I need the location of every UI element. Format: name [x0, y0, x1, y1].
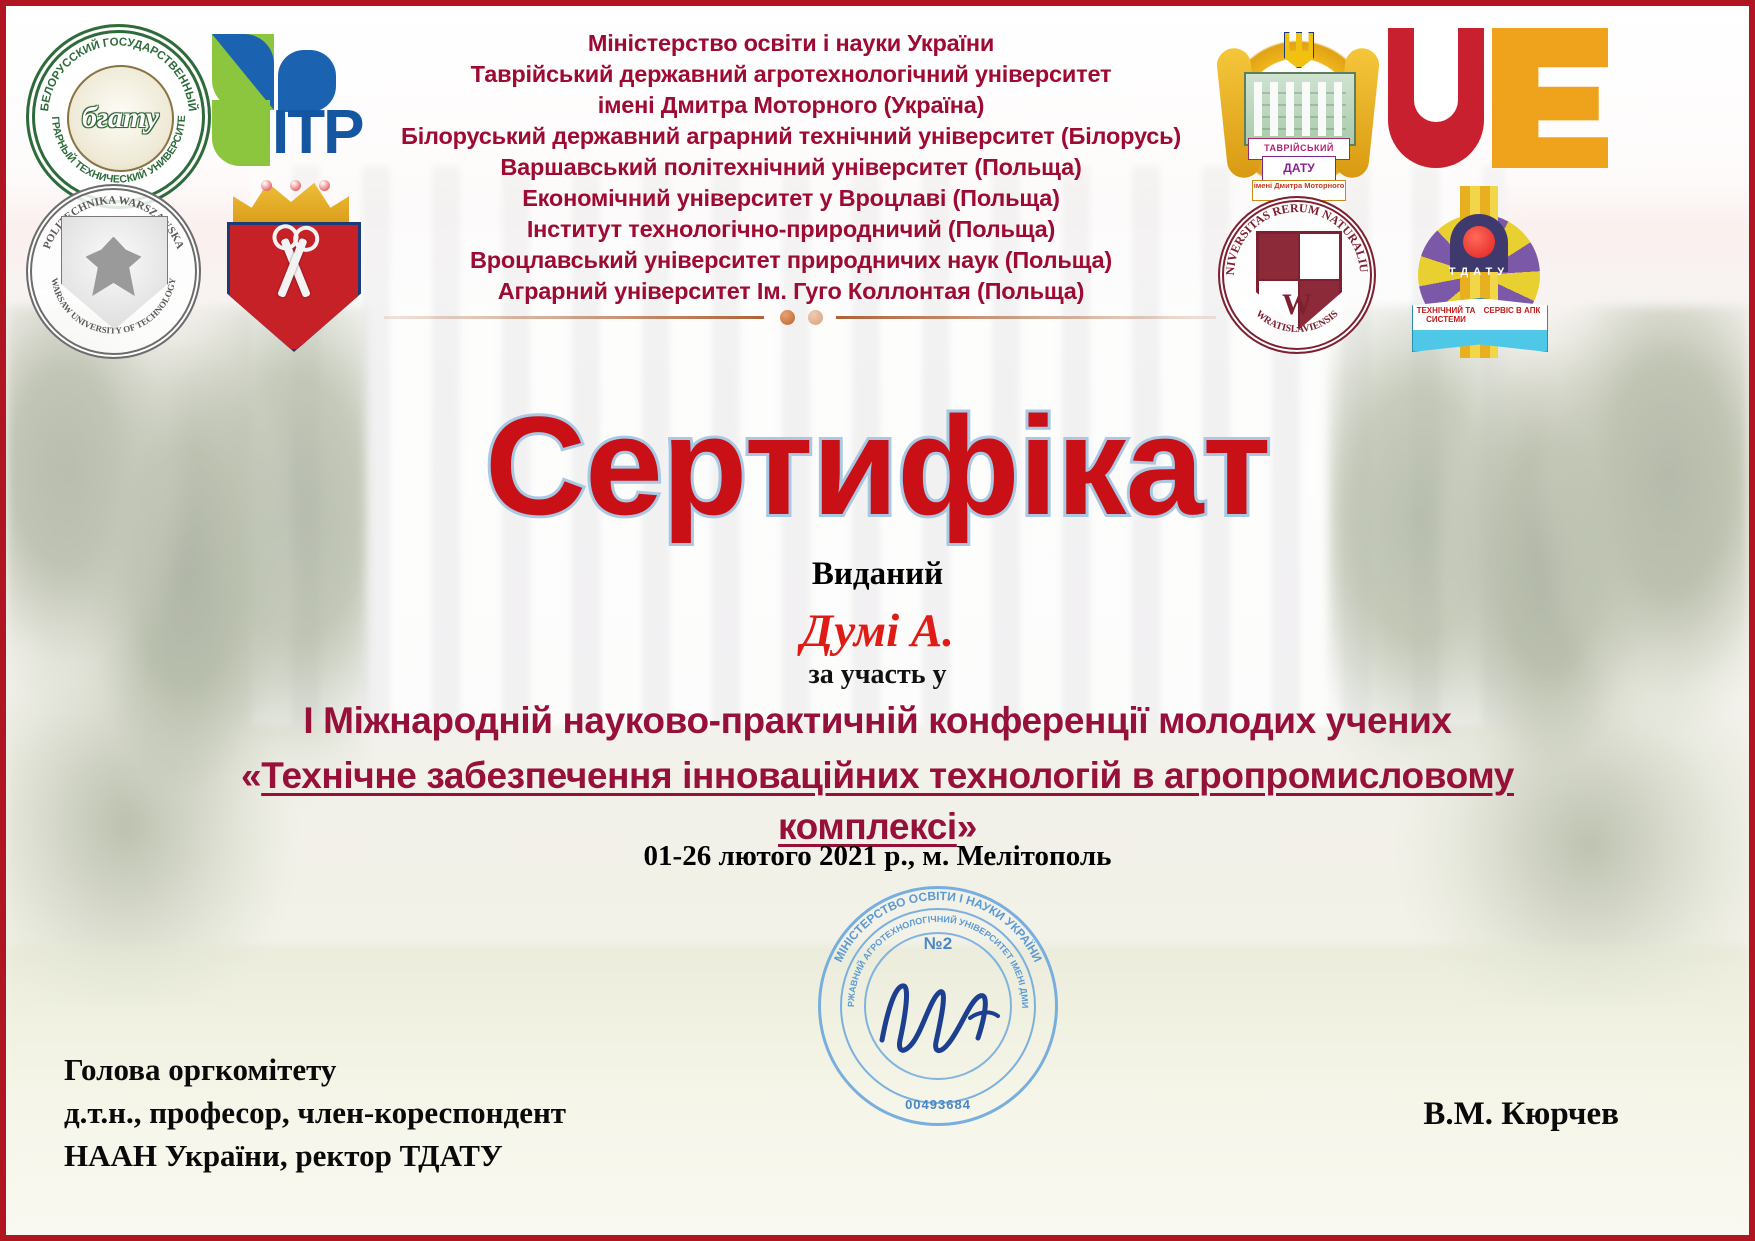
- official-round-stamp: МІНІСТЕРСТВО ОСВІТИ І НАУКИ УКРАЇНИ ТАВР…: [818, 886, 1058, 1126]
- tdatu-emblem: ТАВРІЙСЬКИЙ ДАТУ імені Дмитра Моторного: [1218, 26, 1378, 201]
- header-divider: [384, 306, 1216, 328]
- crown-jewel-icon: [290, 180, 301, 191]
- signer-title-line-2: д.т.н., професор, член-кореспондент: [64, 1091, 566, 1134]
- ue-letter-e-icon: [1492, 28, 1608, 168]
- crown-jewel-icon: [319, 180, 330, 191]
- organizers-block: Міністерство освіти і науки України Тавр…: [376, 28, 1206, 307]
- conference-name: «Технічне забезпечення інноваційних техн…: [61, 750, 1694, 852]
- stamp-number: №2: [924, 934, 952, 954]
- divider-dot-icon: [780, 310, 795, 325]
- divider-bar-right: [836, 316, 1216, 319]
- stamp-identifier: 00493684: [905, 1097, 971, 1112]
- organizer-line: Вроцлавський університет природничих нау…: [376, 245, 1206, 276]
- university-building-icon: [1244, 72, 1356, 146]
- bsatu-monogram: бгату: [82, 101, 159, 135]
- ue-letter-u-icon: [1388, 28, 1484, 168]
- signer-name: В.М. Кюрчев: [1423, 1096, 1619, 1133]
- organizer-line: Аграрний університет Ім. Гуго Коллонтая …: [376, 276, 1206, 307]
- faculty-book-right-label: СЕРВІС В АПК: [1482, 306, 1542, 315]
- crowned-shield-logo: [211, 178, 371, 350]
- warsaw-university-of-technology-logo: POLITECHNIKA WARSZAWSKA WARSAW UNIVERSIT…: [26, 184, 201, 359]
- organizer-line: Таврійський державний агротехнологічний …: [376, 59, 1206, 90]
- recipient-name: Думі А.: [6, 604, 1749, 658]
- page-title: Сертифікат: [6, 391, 1749, 541]
- wroclaw-university-of-environmental-sciences-logo: UNIVERSITAS RERUM NATURALIUM WRATISLAVIE…: [1218, 196, 1376, 354]
- crown-jewel-icon: [261, 180, 272, 191]
- certificate-document: Міністерство освіти і науки України Тавр…: [0, 0, 1755, 1241]
- conference-line-1: І Міжнародній науково-практичній конфере…: [66, 700, 1689, 742]
- sun-icon: [1463, 226, 1495, 258]
- itp-leaf-icon: [212, 100, 270, 166]
- organizer-line: імені Дмитра Моторного (Україна): [376, 90, 1206, 121]
- bsatu-seal-core: бгату: [67, 65, 175, 173]
- date-and-place: 01-26 лютого 2021 р., м. Мелітополь: [6, 840, 1749, 873]
- organizer-line: Варшавський політехнічний університет (П…: [376, 152, 1206, 183]
- organizer-line: Економічний університет у Вроцлаві (Поль…: [376, 183, 1206, 214]
- organizer-line: Білоруський державний аграрний технічний…: [376, 121, 1206, 152]
- divider-bar-left: [384, 316, 764, 319]
- conference-name-part1: Технічне забезпечення інноваційних техно…: [261, 755, 1514, 796]
- tdatu-acronym-label: ДАТУ: [1262, 156, 1336, 182]
- organizer-line: Інститут технологічно-природничий (Польщ…: [376, 214, 1206, 245]
- shield-icon: [227, 222, 361, 352]
- signer-title-line-1: Голова оргкомітету: [64, 1048, 566, 1091]
- tdatu-faculty-emblem: ТДАТУ ТЕХНІЧНИЙ ТА СИСТЕМИ СЕРВІС В АПК: [1404, 186, 1554, 358]
- issued-label: Виданий: [6, 556, 1749, 593]
- itp-logo: ITP: [206, 28, 386, 173]
- faculty-book-left-label: ТЕХНІЧНИЙ ТА СИСТЕМИ: [1416, 306, 1476, 324]
- organizer-line: Міністерство освіти і науки України: [376, 28, 1206, 59]
- signer-title-line-3: НААН України, ректор ТДАТУ: [64, 1134, 566, 1177]
- itp-wordmark: ITP: [272, 102, 362, 164]
- building-windows: [1254, 82, 1346, 136]
- shield-quarter: [1258, 233, 1299, 280]
- signer-title-block: Голова оргкомітету д.т.н., професор, чле…: [64, 1048, 566, 1177]
- quote-open: «: [241, 755, 261, 796]
- ue-wroclaw-logo: [1388, 28, 1608, 168]
- divider-dot-icon: [808, 310, 823, 325]
- handwritten-signature: [874, 958, 1004, 1068]
- faculty-acronym: ТДАТУ: [1432, 266, 1526, 278]
- shield-quarter: [1299, 233, 1340, 280]
- wroclaw-letter-w: W: [1282, 288, 1312, 322]
- crossed-keys-icon: [230, 225, 358, 349]
- participation-label: за участь у: [6, 659, 1749, 691]
- bsatu-logo: БЕЛОРУССКИЙ ГОСУДАРСТВЕННЫЙ АГРАРНЫЙ ТЕХ…: [26, 24, 211, 209]
